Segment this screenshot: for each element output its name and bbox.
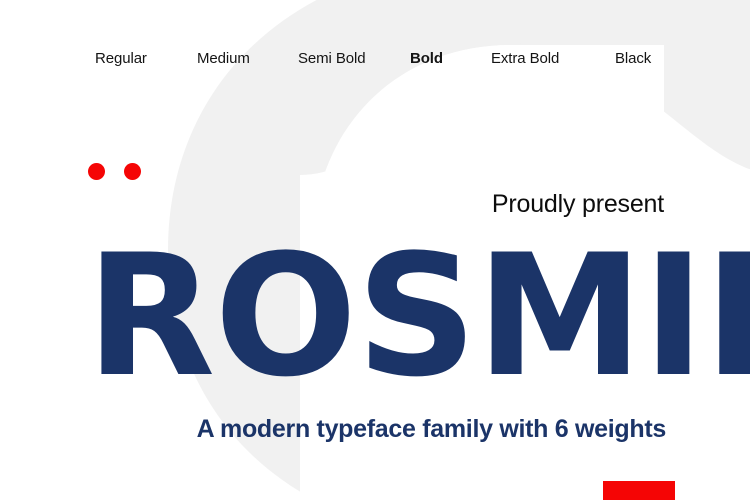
weight-label-regular[interactable]: Regular (95, 46, 147, 72)
red-dot-left (88, 163, 105, 180)
weight-label-medium[interactable]: Medium (197, 46, 250, 72)
subtitle-text: A modern typeface family with 6 weights (197, 414, 666, 444)
weight-label-bold[interactable]: Bold (410, 46, 443, 72)
page-title: ROSMIE (86, 232, 750, 400)
red-accent-block (603, 481, 675, 500)
weight-label-semi-bold[interactable]: Semi Bold (298, 46, 365, 72)
weight-label-black[interactable]: Black (615, 46, 651, 72)
red-dot-right (124, 163, 141, 180)
font-specimen-poster: Regular Medium Semi Bold Bold Extra Bold… (0, 0, 750, 500)
weight-label-extra-bold[interactable]: Extra Bold (491, 46, 559, 72)
eyebrow-text: Proudly present (492, 189, 664, 219)
